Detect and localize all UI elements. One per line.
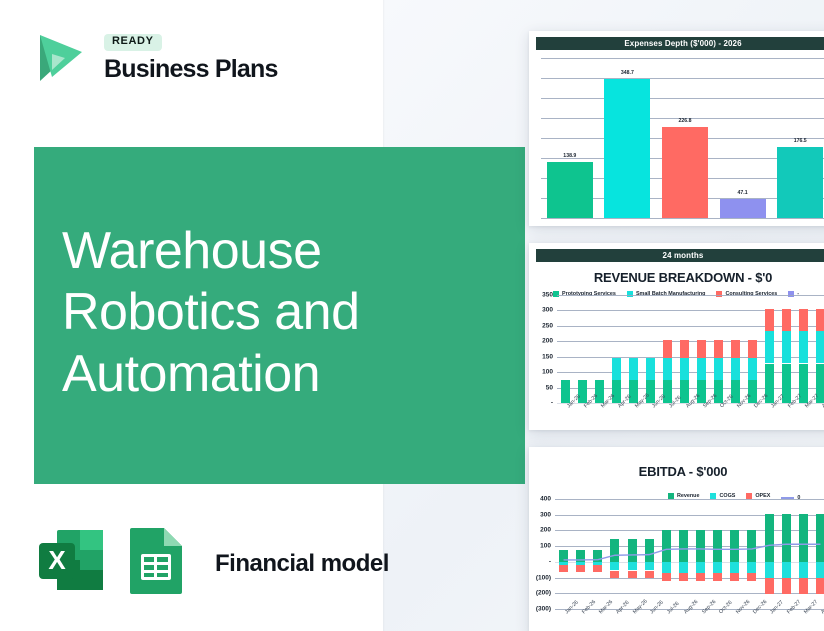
chart-xaxis-revenue: Jan-26Feb-26Mar-26Apr-26May-26Jun-26Jul-… xyxy=(557,405,824,429)
bar-value-label: 348.7 xyxy=(621,70,634,76)
bar-segment xyxy=(610,562,619,571)
bar-segment xyxy=(628,539,637,562)
bar-segment xyxy=(663,358,672,380)
brand-wordmark: READY Business Plans xyxy=(104,31,324,82)
bar-segment xyxy=(645,539,654,562)
bar-segment xyxy=(816,562,824,578)
bar-segment xyxy=(765,309,774,332)
bar-value-label: 226.8 xyxy=(679,118,692,124)
bar-segment xyxy=(593,550,602,562)
bar-segment xyxy=(610,539,619,562)
chart-card-ebitda: EBITDA - $'000 RevenueCOGSOPEX0 40030020… xyxy=(529,447,824,631)
page-title-line-3: Automation xyxy=(62,344,502,405)
page-title-line-1: Warehouse xyxy=(62,221,502,282)
y-axis-tick: - xyxy=(551,400,553,407)
gridline xyxy=(541,218,824,219)
chart-xaxis-ebitda: Jan-26Feb-26Mar-26Apr-26May-26Jun-26Jul-… xyxy=(555,611,824,631)
bar-segment xyxy=(679,562,688,573)
brand-name: Business Plans xyxy=(104,56,324,82)
y-axis-tick: 250 xyxy=(542,322,553,329)
bar-segment xyxy=(697,358,706,380)
bar-segment xyxy=(610,571,619,579)
chart-title-ebitda: EBITDA - $'000 xyxy=(529,464,824,479)
page-title: Warehouse Robotics and Automation xyxy=(62,221,502,405)
bar-segment xyxy=(730,530,739,562)
bar-segment xyxy=(765,578,774,594)
chart-plot-revenue: 35030025020015010050- xyxy=(557,295,824,403)
page-title-line-2: Robotics and xyxy=(62,282,502,343)
microsoft-excel-icon[interactable]: X xyxy=(35,524,108,596)
hero-block: Warehouse Robotics and Automation xyxy=(34,147,525,484)
y-axis-tick: 150 xyxy=(542,353,553,360)
y-axis-tick: 100 xyxy=(540,543,551,550)
bar xyxy=(604,79,650,218)
bar-segment xyxy=(713,562,722,573)
y-axis-tick: (200) xyxy=(536,590,551,597)
bar-value-label: 47.1 xyxy=(738,190,748,196)
bar-segment xyxy=(714,358,723,380)
bar-segment xyxy=(680,340,689,358)
bar-segment xyxy=(559,550,568,562)
bar-value-label: 138.9 xyxy=(563,153,576,159)
bar-segment xyxy=(799,331,808,363)
bar-segment xyxy=(731,340,740,358)
bar-segment xyxy=(782,562,791,578)
bar-segment xyxy=(747,573,756,582)
bar-segment xyxy=(663,340,672,358)
bar-segment xyxy=(559,565,568,572)
bar-segment xyxy=(799,578,808,594)
bar-segment xyxy=(593,565,602,572)
bar-segment xyxy=(628,571,637,579)
bar-segment xyxy=(628,562,637,571)
bar-segment xyxy=(576,565,585,572)
bar xyxy=(662,127,708,218)
bar-segment xyxy=(765,331,774,363)
bar-segment xyxy=(697,340,706,358)
chart-plot-ebitda: 400300200100-(100)(200)(300) xyxy=(555,499,824,609)
bar-segment xyxy=(731,358,740,380)
chart-card-revenue: 24 months REVENUE BREAKDOWN - $'0 Protot… xyxy=(529,243,824,430)
bar-segment xyxy=(730,562,739,573)
bar xyxy=(777,147,823,218)
bar-segment xyxy=(679,530,688,562)
poster-canvas: READY Business Plans Warehouse Robotics … xyxy=(0,0,824,631)
gridline xyxy=(541,58,824,59)
bar-segment xyxy=(714,340,723,358)
y-axis-tick: 300 xyxy=(542,307,553,314)
bar-segment xyxy=(629,358,638,380)
y-axis-tick: (100) xyxy=(536,574,551,581)
bar-segment xyxy=(747,562,756,573)
bar-segment xyxy=(679,573,688,582)
y-axis-tick: 50 xyxy=(546,384,553,391)
bar-segment xyxy=(782,578,791,594)
bar-segment xyxy=(747,530,756,562)
bar-value-label: 176.5 xyxy=(794,138,807,144)
y-axis-tick: 100 xyxy=(542,369,553,376)
bar-segment xyxy=(765,562,774,578)
bar-segment xyxy=(646,358,655,380)
bar-segment xyxy=(816,514,824,562)
play-logo-icon xyxy=(28,27,90,89)
y-axis-tick: 400 xyxy=(540,496,551,503)
brand-logo[interactable]: READY Business Plans xyxy=(28,27,328,99)
ready-badge: READY xyxy=(104,34,162,51)
google-sheets-icon[interactable] xyxy=(124,524,188,596)
bar-segment xyxy=(662,562,671,573)
y-axis-tick: (300) xyxy=(536,606,551,613)
y-axis-tick: 200 xyxy=(542,338,553,345)
svg-text:X: X xyxy=(48,545,66,575)
bar-segment xyxy=(696,573,705,582)
bar-segment xyxy=(713,573,722,582)
gridline xyxy=(541,98,824,99)
bar-segment xyxy=(645,571,654,579)
chart-header-revenue: 24 months xyxy=(536,249,824,262)
bar-segment xyxy=(799,309,808,332)
bar-segment xyxy=(730,573,739,582)
bar-segment xyxy=(696,530,705,562)
bar-segment xyxy=(576,550,585,562)
chart-plot-expenses: 138.9348.7226.847.1176.5 xyxy=(541,58,824,218)
gridline xyxy=(555,499,824,500)
bar xyxy=(720,199,766,218)
chart-card-expenses: Expenses Depth ($'000) - 2026 138.9348.7… xyxy=(529,31,824,226)
gridline xyxy=(557,295,824,296)
chart-title-revenue: REVENUE BREAKDOWN - $'0 xyxy=(529,270,824,285)
financial-model-label: Financial model xyxy=(215,550,389,578)
gridline xyxy=(541,78,824,79)
y-axis-tick: 350 xyxy=(542,292,553,299)
chart-title-expenses: Expenses Depth ($'000) - 2026 xyxy=(536,37,824,50)
bar-segment xyxy=(662,573,671,582)
bar-segment xyxy=(561,380,570,403)
bar-segment xyxy=(816,331,824,363)
bar-segment xyxy=(662,530,671,562)
footer-row: X Financial model xyxy=(35,520,465,600)
y-axis-tick: 200 xyxy=(540,527,551,534)
bar-segment xyxy=(645,562,654,571)
bar-segment xyxy=(680,358,689,380)
y-axis-tick: - xyxy=(549,558,551,565)
bar-segment xyxy=(816,309,824,332)
bar-segment xyxy=(696,562,705,573)
bar xyxy=(547,162,593,218)
bar-segment xyxy=(748,340,757,358)
bar-segment xyxy=(799,562,808,578)
bar-segment xyxy=(782,331,791,363)
bar-segment xyxy=(782,514,791,562)
bar-segment xyxy=(748,358,757,380)
bar-segment xyxy=(816,578,824,594)
bar-segment xyxy=(799,514,808,562)
bar-segment xyxy=(765,514,774,562)
bar-segment xyxy=(782,309,791,332)
y-axis-tick: 300 xyxy=(540,511,551,518)
bar-segment xyxy=(612,358,621,380)
bar-segment xyxy=(713,530,722,562)
